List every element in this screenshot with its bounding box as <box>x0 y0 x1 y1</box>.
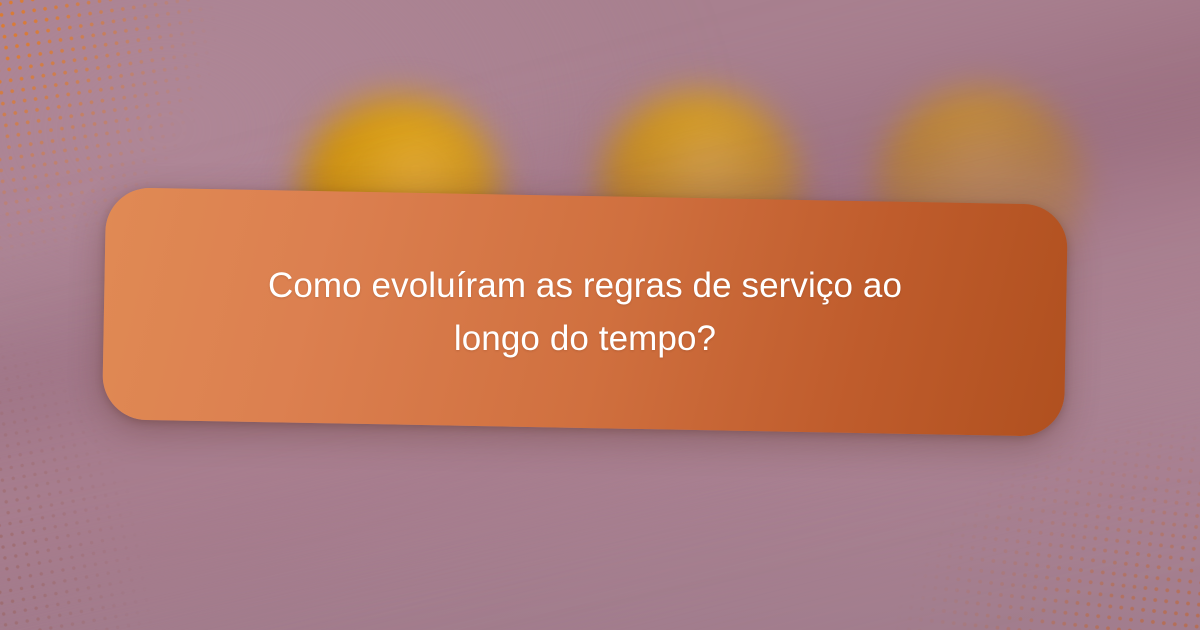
headline-title: Como evoluíram as regras de serviço ao l… <box>235 259 935 365</box>
social-card-canvas: Como evoluíram as regras de serviço ao l… <box>0 0 1200 630</box>
headline-card-wrapper: Como evoluíram as regras de serviço ao l… <box>102 187 1068 437</box>
headline-card: Como evoluíram as regras de serviço ao l… <box>102 187 1068 437</box>
